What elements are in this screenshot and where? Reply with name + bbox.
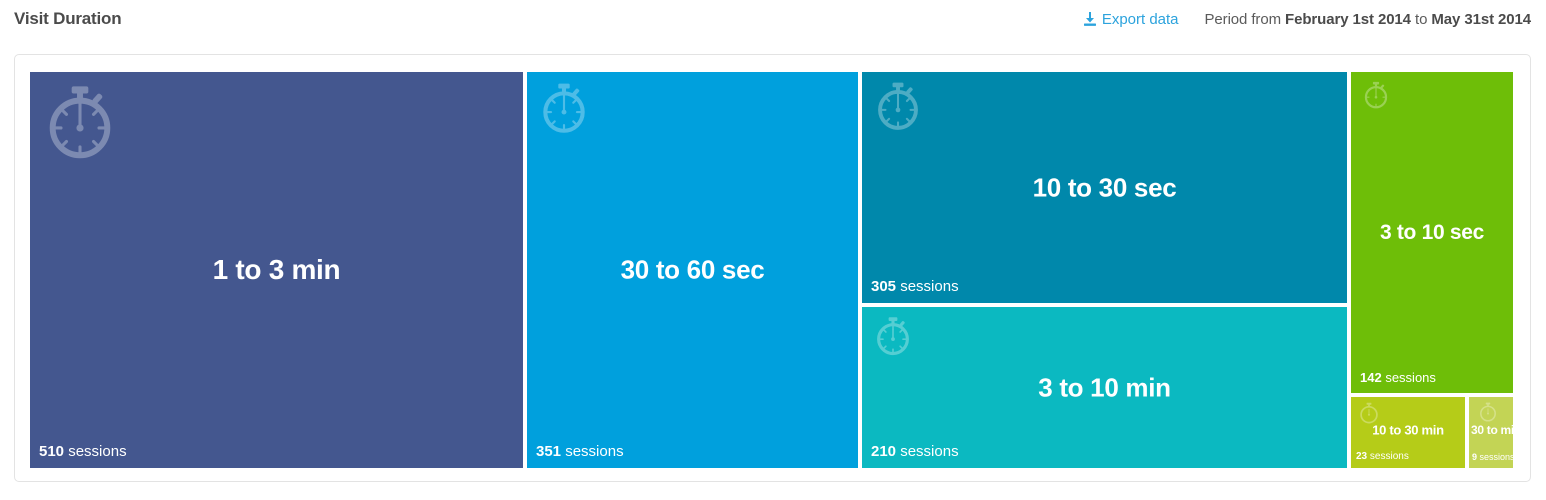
treemap-tile[interactable]: 10 to 30 min 23 sessions xyxy=(1351,397,1465,468)
tile-label: 1 to 3 min xyxy=(30,254,523,286)
tile-sessions: 23 sessions xyxy=(1356,451,1409,462)
tile-label: 10 to 30 sec xyxy=(862,172,1347,203)
treemap-tile[interactable]: 1 to 3 min 510 sessions xyxy=(30,72,523,468)
report-header: Visit Duration Export data Period from F… xyxy=(0,0,1546,46)
tile-label: 3 to 10 min xyxy=(862,372,1347,403)
tile-sessions: 142 sessions xyxy=(1360,370,1436,385)
tile-sessions-unit: sessions xyxy=(1480,452,1513,462)
tile-sessions-unit: sessions xyxy=(68,443,126,460)
stopwatch-icon xyxy=(1362,81,1390,109)
tile-sessions-unit: sessions xyxy=(900,443,958,460)
tile-label: 3 to 10 sec xyxy=(1351,221,1513,245)
tile-sessions-unit: sessions xyxy=(1385,370,1436,385)
tile-sessions-value: 142 xyxy=(1360,370,1382,385)
stopwatch-icon xyxy=(873,81,923,131)
tile-sessions: 210 sessions xyxy=(871,443,959,460)
period-start: February 1st 2014 xyxy=(1285,11,1411,28)
stopwatch-icon xyxy=(1478,402,1498,422)
treemap-tile[interactable]: 30 to 60 sec 351 sessions xyxy=(527,72,858,468)
period-middle: to xyxy=(1415,11,1427,28)
tile-sessions-value: 23 xyxy=(1356,451,1367,462)
period-end: May 31st 2014 xyxy=(1431,11,1531,28)
tile-label: 30 to 60 sec xyxy=(527,255,858,286)
stopwatch-icon xyxy=(873,316,913,356)
stopwatch-icon xyxy=(1358,402,1380,424)
period-prefix: Period from xyxy=(1205,11,1281,28)
tile-label: 30 to min xyxy=(1469,423,1513,437)
stopwatch-icon xyxy=(538,82,590,134)
stopwatch-icon xyxy=(42,84,118,160)
tile-sessions-value: 210 xyxy=(871,443,896,460)
treemap-tile[interactable]: 30 to min 9 sessions xyxy=(1469,397,1513,468)
page-title: Visit Duration xyxy=(14,9,121,29)
visit-duration-treemap: 1 to 3 min 510 sessions xyxy=(30,72,1513,468)
tile-sessions-value: 510 xyxy=(39,443,64,460)
tile-sessions: 510 sessions xyxy=(39,443,127,460)
tile-sessions-value: 9 xyxy=(1472,452,1477,462)
tile-sessions-value: 351 xyxy=(536,443,561,460)
visit-duration-report: Visit Duration Export data Period from F… xyxy=(0,0,1546,500)
tile-sessions: 305 sessions xyxy=(871,278,959,295)
export-data-label: Export data xyxy=(1102,11,1179,28)
tile-sessions-unit: sessions xyxy=(565,443,623,460)
header-actions: Export data Period from February 1st 201… xyxy=(1083,11,1531,28)
tile-sessions-value: 305 xyxy=(871,278,896,295)
download-icon xyxy=(1083,12,1097,27)
tile-sessions-unit: sessions xyxy=(1370,451,1409,462)
tile-sessions: 9 sessions xyxy=(1472,452,1513,462)
tile-label: 10 to 30 min xyxy=(1351,423,1465,438)
tile-sessions: 351 sessions xyxy=(536,443,624,460)
export-data-link[interactable]: Export data xyxy=(1083,11,1179,28)
period-range: Period from February 1st 2014 to May 31s… xyxy=(1205,11,1531,28)
tile-sessions-unit: sessions xyxy=(900,278,958,295)
treemap-tile[interactable]: 10 to 30 sec 305 sessions xyxy=(862,72,1347,303)
treemap-tile[interactable]: 3 to 10 min 210 sessions xyxy=(862,307,1347,468)
treemap-tile[interactable]: 3 to 10 sec 142 sessions xyxy=(1351,72,1513,393)
